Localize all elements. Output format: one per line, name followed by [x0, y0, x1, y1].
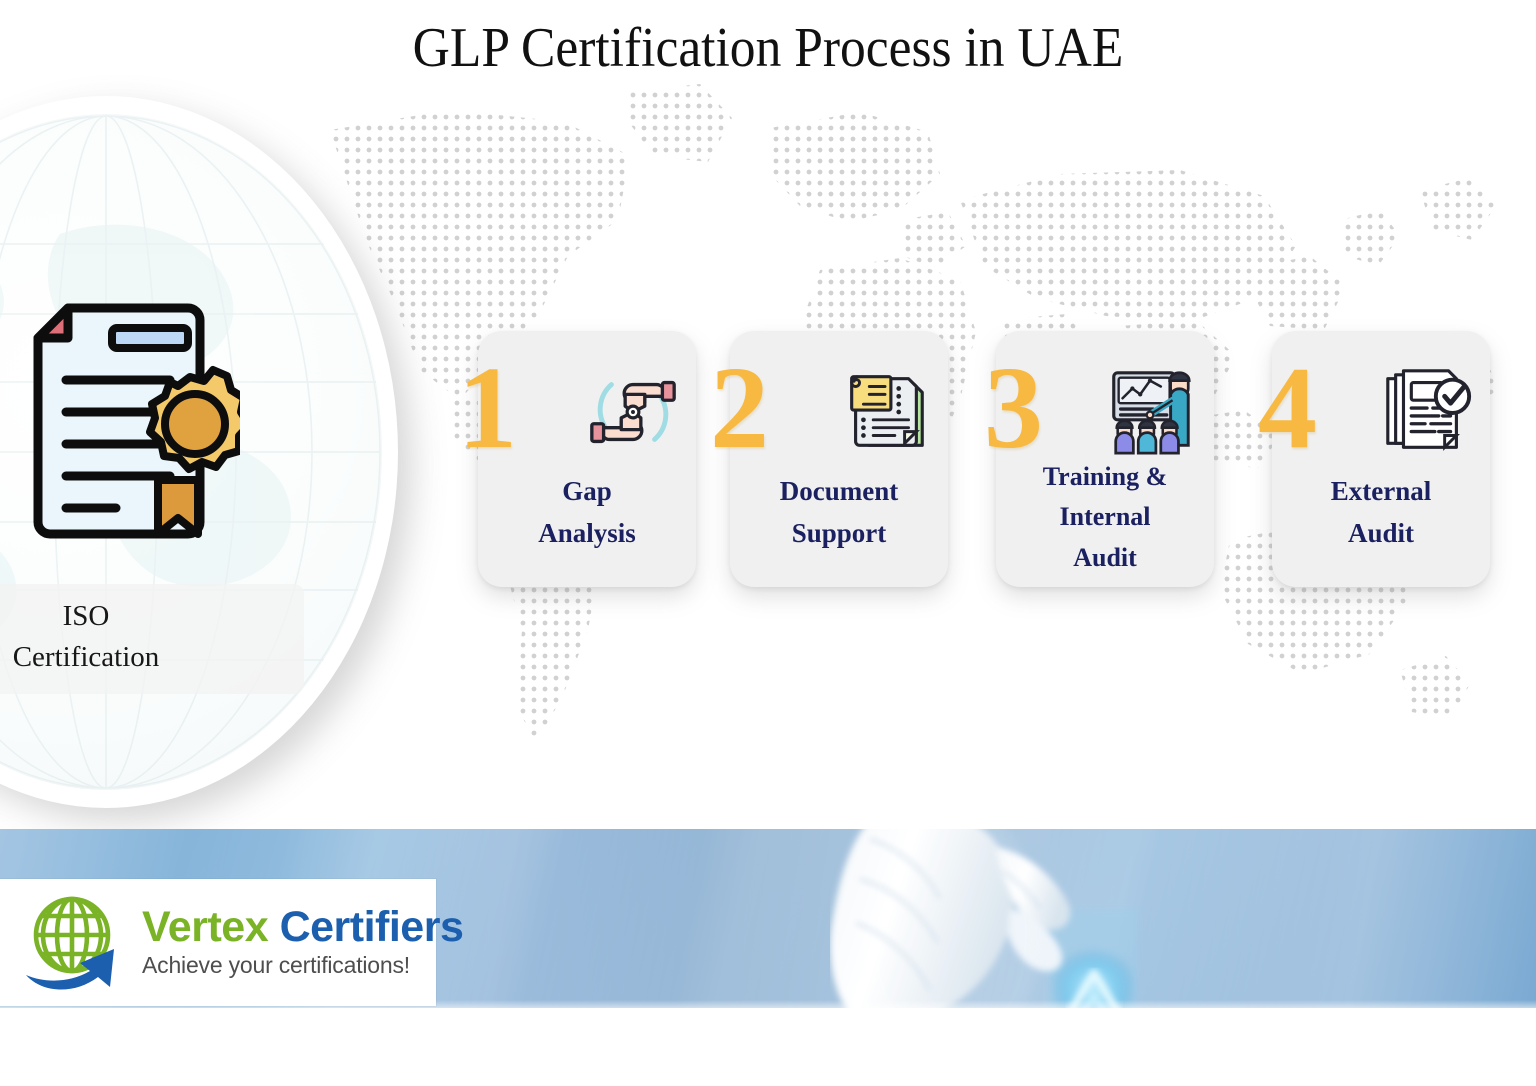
training-presentation-icon [1102, 363, 1200, 461]
step-4-label-line1: External [1278, 471, 1484, 513]
infographic-canvas: GLP Certification Process in UAE [0, 0, 1536, 1086]
partnership-handshake-icon [584, 363, 682, 461]
globe-arrow-logo-icon [16, 891, 136, 995]
step-3-label-line2: Internal [1002, 497, 1208, 537]
step-1-label-line1: Gap [484, 471, 690, 513]
company-logo[interactable]: Vertex Certifiers Achieve your certifica… [0, 879, 436, 1006]
gloved-hand-touching-screen-graphic [830, 829, 1260, 1008]
documents-sticky-note-icon [836, 363, 934, 461]
logo-name-part2: Certifiers [280, 903, 464, 951]
audit-documents-check-icon [1378, 363, 1476, 461]
footer-white-strip [0, 1008, 1536, 1086]
step-card-1[interactable]: 1 [478, 331, 696, 587]
step-2-label-line2: Support [736, 513, 942, 555]
logo-name-part1: Vertex [142, 903, 268, 951]
step-card-2[interactable]: 2 [730, 331, 948, 587]
step-card-4[interactable]: 4 [1272, 331, 1490, 587]
step-3-label-line1: Training & [1002, 457, 1208, 497]
step-4-label-line2: Audit [1278, 513, 1484, 555]
step-card-3-head: 3 [996, 331, 1214, 461]
step-card-3[interactable]: 3 [996, 331, 1214, 587]
step-card-3-label: Training & Internal Audit [1002, 457, 1208, 578]
step-number-2: 2 [710, 349, 769, 467]
step-card-1-head: 1 [478, 331, 696, 461]
step-card-1-label: Gap Analysis [484, 471, 690, 555]
logo-tagline: Achieve your certifications! [142, 952, 463, 979]
step-3-label-line3: Audit [1002, 538, 1208, 578]
step-number-4: 4 [1258, 349, 1317, 467]
step-1-label-line2: Analysis [484, 513, 690, 555]
logo-text-block: Vertex Certifiers Achieve your certifica… [142, 906, 463, 980]
step-card-2-head: 2 [730, 331, 948, 461]
step-card-4-head: 4 [1272, 331, 1490, 461]
step-number-3: 3 [984, 349, 1043, 467]
step-2-label-line1: Document [736, 471, 942, 513]
step-card-2-label: Document Support [736, 471, 942, 555]
step-card-4-label: External Audit [1278, 471, 1484, 555]
logo-title: Vertex Certifiers [142, 906, 463, 950]
step-number-1: 1 [458, 349, 517, 467]
